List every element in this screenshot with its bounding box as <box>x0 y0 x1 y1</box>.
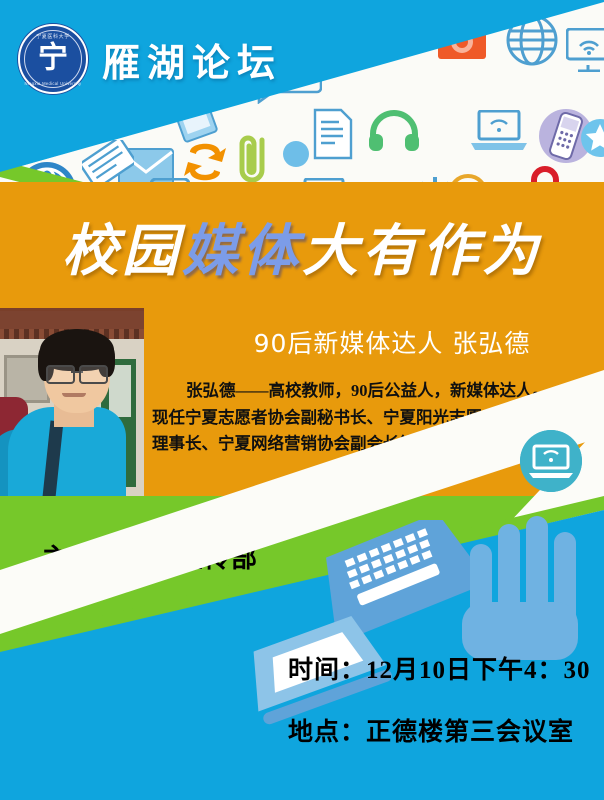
university-seal-icon: 宁夏医科大学 宁 Ningxia Medical University <box>18 24 88 94</box>
photo-glasses-icon <box>46 365 108 380</box>
laptop-circle-icon <box>520 430 582 492</box>
seal-arc-bottom: Ningxia Medical University <box>20 81 86 86</box>
document-icon <box>312 108 354 160</box>
top-banner: 宁夏医科大学 宁 Ningxia Medical University 雁湖论坛 <box>0 0 604 186</box>
headphones-icon <box>368 108 420 152</box>
paperclip-icon <box>234 130 274 186</box>
seal-arc-top: 宁夏医科大学 <box>20 33 86 40</box>
photo-mouth <box>62 393 86 397</box>
forum-wordmark: 雁湖论坛 <box>102 32 282 87</box>
title-part-2-highlight: 媒体 <box>182 219 302 284</box>
event-place: 地点：正德楼第三会议室 <box>288 712 604 748</box>
monitor-wifi-icon <box>566 28 604 72</box>
laptop-wifi-icon <box>470 110 528 152</box>
star-badge-icon <box>580 118 604 158</box>
title-part-1: 校园 <box>62 219 182 284</box>
circle-dot-icon <box>282 140 310 168</box>
brand-lockup: 宁夏医科大学 宁 Ningxia Medical University 雁湖论坛 <box>18 24 282 94</box>
page-title: 校园媒体大有作为 <box>0 206 604 287</box>
hand-illustration <box>452 498 602 673</box>
event-details: 时间：12月10日下午4：30 地点：正德楼第三会议室 <box>288 650 604 748</box>
speaker-subtitle: 90后新媒体达人 张弘德 <box>180 324 604 360</box>
event-time: 时间：12月10日下午4：30 <box>288 650 604 686</box>
keyboard-icon <box>82 140 134 186</box>
speaker-photo <box>0 308 144 500</box>
poster-root: 宁夏医科大学 宁 Ningxia Medical University 雁湖论坛… <box>0 0 604 800</box>
title-part-3: 大有作为 <box>302 219 542 284</box>
seal-glyph: 宁 <box>20 43 86 73</box>
